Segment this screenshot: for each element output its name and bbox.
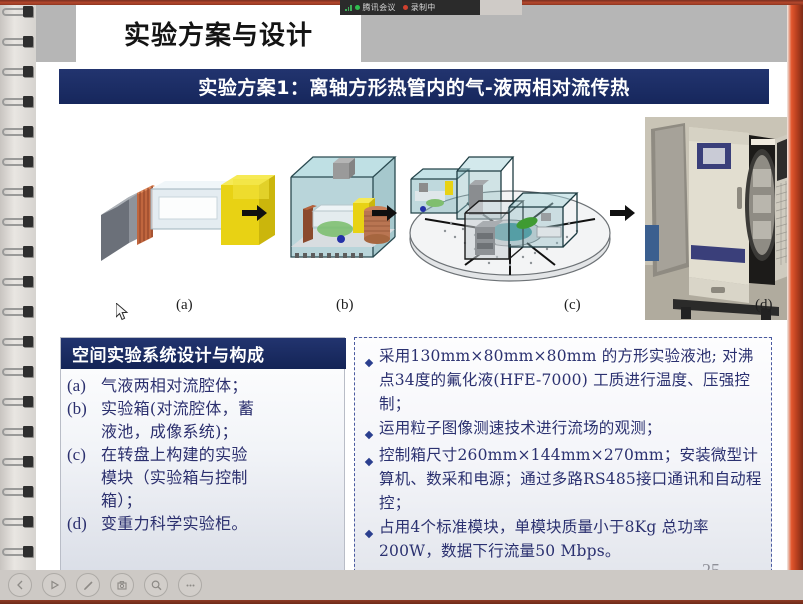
diamond-bullet-icon [359, 344, 379, 371]
arrow-b-to-c [372, 204, 398, 222]
item-line: 模块（实验箱与控制 [101, 466, 248, 489]
arrow-c-to-d [610, 204, 636, 222]
diamond-bullet-icon [359, 416, 379, 443]
spiral-ring [2, 456, 33, 468]
item-line: 实验箱(对流腔体，蓄 [101, 397, 254, 420]
list-item: (b) 实验箱(对流腔体，蓄 液池，成像系统)； [67, 397, 340, 443]
left-info-box: 空间实验系统设计与构成 (a) 气液两相对流腔体； (b) 实验箱(对流腔体，蓄… [60, 337, 345, 582]
magnifier-icon [150, 579, 163, 592]
spiral-ring [2, 276, 33, 288]
item-line: 变重力科学实验柜。 [101, 512, 248, 535]
spiral-ring [2, 366, 33, 378]
status-dot-icon [355, 5, 360, 10]
item-marker: (c) [67, 443, 101, 466]
spiral-binding [0, 4, 36, 600]
item-line: 箱）； [101, 489, 248, 512]
list-item: (c) 在转盘上构建的实验 模块（实验箱与控制 箱）； [67, 443, 340, 512]
spiral-ring [2, 6, 33, 18]
page-title: 实验方案与设计 [124, 15, 313, 52]
figure-d-rack-photo [645, 117, 787, 320]
camera-icon [116, 579, 129, 592]
bullet-item: 采用130mm×80mm×80mm 的方形实验液池; 对沸点34度的氟化液(HF… [359, 344, 767, 416]
item-marker: (d) [67, 512, 101, 535]
bullet-item: 占用4个标准模块，单模块质量小于8Kg 总功率200W，数据下行流量50 Mbp… [359, 515, 767, 563]
window-bottom-border [0, 600, 803, 604]
spiral-ring [2, 156, 33, 168]
spiral-ring [2, 66, 33, 78]
play-icon [48, 579, 60, 591]
slide-canvas: 实验方案与设计 实验方案1：离轴方形热管内的气-液两相对流传热 [36, 5, 787, 600]
spiral-ring [2, 516, 33, 528]
window-right-border [787, 0, 803, 604]
right-bullet-box: 采用130mm×80mm×80mm 的方形实验液池; 对沸点34度的氟化液(HF… [354, 337, 772, 582]
left-box-list: (a) 气液两相对流腔体； (b) 实验箱(对流腔体，蓄 液池，成像系统)； (… [61, 370, 346, 535]
left-box-header: 空间实验系统设计与构成 [61, 338, 346, 369]
item-marker: (a) [67, 374, 101, 397]
item-line: 液池，成像系统)； [101, 420, 254, 443]
bullet-text: 占用4个标准模块，单模块质量小于8Kg 总功率200W，数据下行流量50 Mbp… [379, 515, 767, 563]
figure-caption-b: (b) [336, 297, 354, 314]
recording-label: 录制中 [411, 2, 436, 13]
camera-button[interactable] [110, 573, 134, 597]
viewer-toolbar [0, 570, 803, 600]
diamond-bullet-icon [359, 443, 379, 470]
bullet-item: 控制箱尺寸260mm×144mm×270mm；安装微型计算机、数采和电源；通过多… [359, 443, 767, 515]
presentation-viewer: 腾讯会议 录制中 实验方案与设计 实验方案1：离轴方形热管内的气-液两相对流传热 [0, 0, 803, 604]
meeting-app-name: 腾讯会议 [363, 2, 396, 13]
spiral-ring [2, 546, 33, 558]
annotate-button[interactable] [76, 573, 100, 597]
section-banner-text: 实验方案1：离轴方形热管内的气-液两相对流传热 [198, 73, 630, 100]
spiral-ring [2, 126, 33, 138]
title-plate: 实验方案与设计 [76, 5, 361, 62]
spiral-ring [2, 96, 33, 108]
bullet-text: 采用130mm×80mm×80mm 的方形实验液池; 对沸点34度的氟化液(HF… [379, 344, 767, 416]
recording-status-bar[interactable]: 腾讯会议 录制中 [340, 0, 480, 15]
mouse-cursor-icon [116, 303, 129, 321]
bullet-text: 控制箱尺寸260mm×144mm×270mm；安装微型计算机、数采和电源；通过多… [379, 443, 767, 515]
zoom-button[interactable] [144, 573, 168, 597]
figure-caption-d: (d) [755, 297, 773, 314]
spiral-ring [2, 486, 33, 498]
section-banner: 实验方案1：离轴方形热管内的气-液两相对流传热 [59, 69, 769, 104]
record-dot-icon [403, 5, 408, 10]
diamond-bullet-icon [359, 515, 379, 542]
spiral-ring [2, 36, 33, 48]
spiral-ring [2, 426, 33, 438]
more-button[interactable] [178, 573, 202, 597]
back-button[interactable] [8, 573, 32, 597]
spiral-ring [2, 336, 33, 348]
list-item: (d) 变重力科学实验柜。 [67, 512, 340, 535]
bullet-item: 运用粒子图像测速技术进行流场的观测； [359, 416, 767, 443]
arrow-a-to-b [242, 204, 268, 222]
play-button[interactable] [42, 573, 66, 597]
back-arrow-icon [14, 579, 26, 591]
spiral-ring [2, 186, 33, 198]
recording-bar-tail [480, 0, 522, 15]
spiral-ring [2, 306, 33, 318]
spiral-ring [2, 396, 33, 408]
pen-icon [82, 579, 95, 592]
figure-caption-a: (a) [176, 297, 193, 314]
left-box-heading: 空间实验系统设计与构成 [72, 341, 265, 366]
list-item: (a) 气液两相对流腔体； [67, 374, 340, 397]
bullet-text: 运用粒子图像测速技术进行流场的观测； [379, 416, 664, 440]
item-line: 气液两相对流腔体； [101, 374, 248, 397]
spiral-ring [2, 246, 33, 258]
figure-strip: (a) [59, 111, 787, 326]
ellipsis-icon [184, 579, 197, 592]
figure-caption-c: (c) [564, 297, 581, 314]
item-line: 在转盘上构建的实验 [101, 443, 248, 466]
signal-bars-icon [345, 4, 352, 11]
spiral-ring [2, 216, 33, 228]
item-marker: (b) [67, 397, 101, 420]
figure-c-rotating-platform [405, 131, 615, 291]
